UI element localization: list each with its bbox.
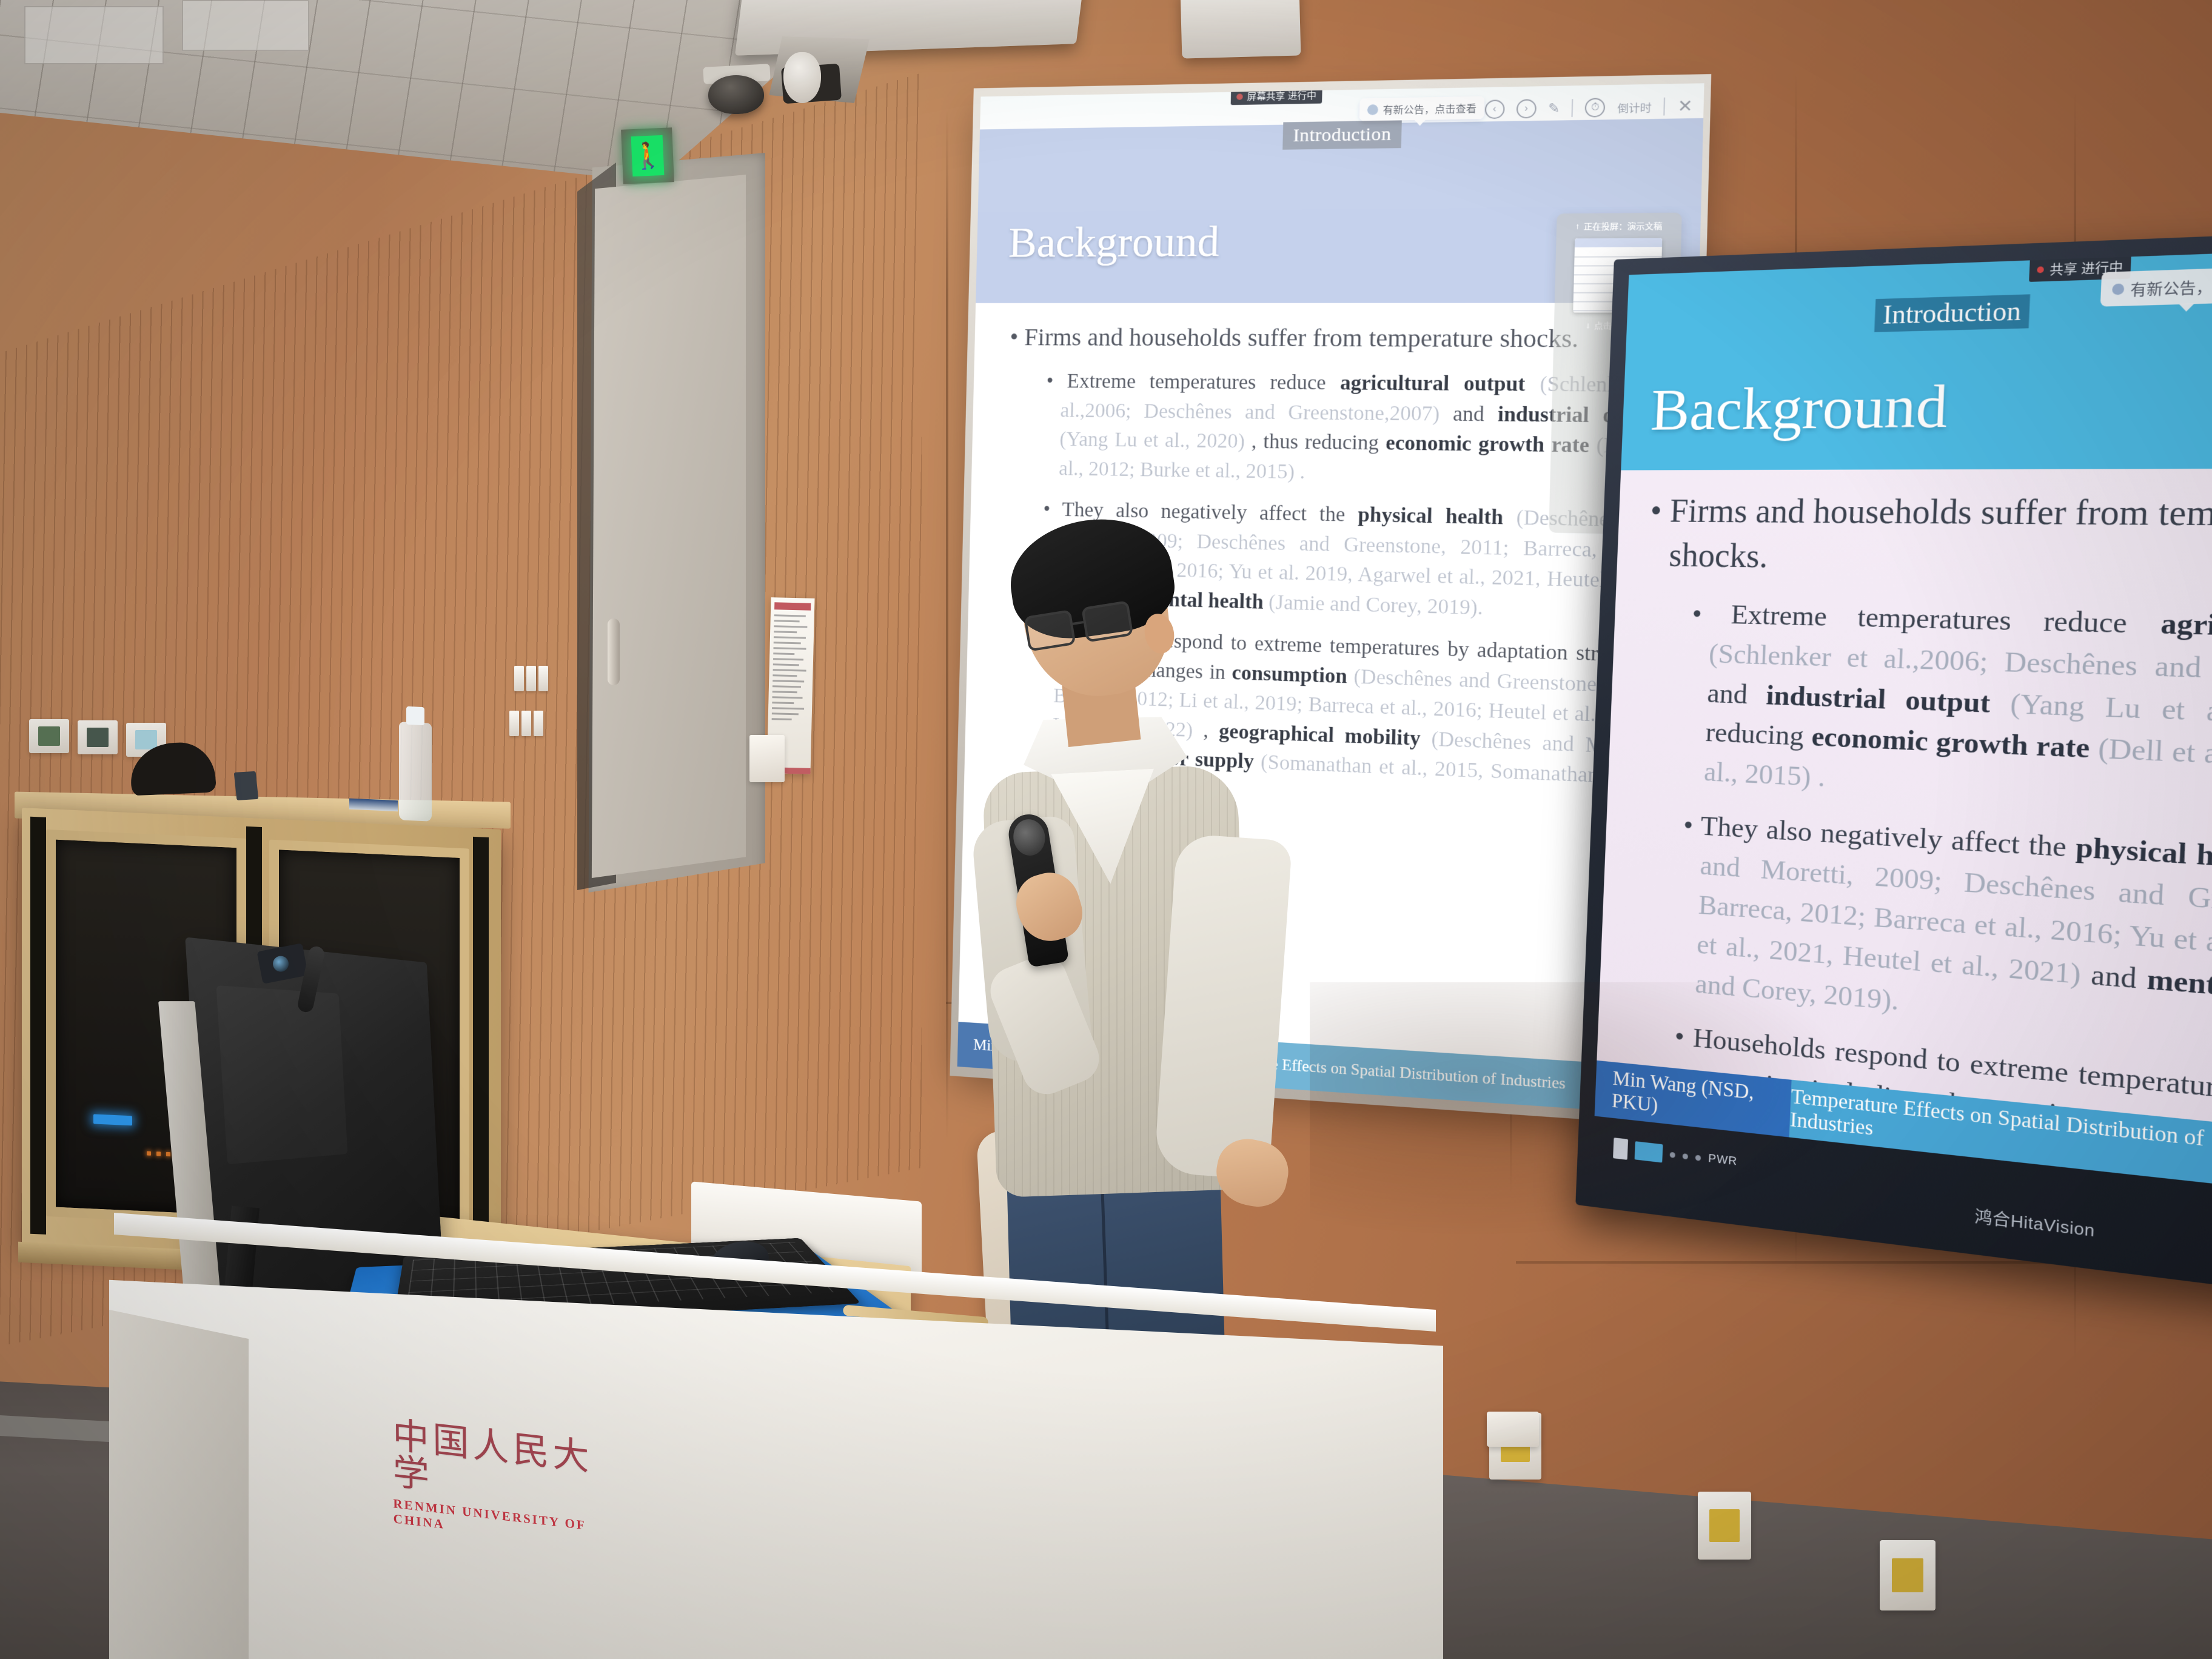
lecture-room-scene: 🚶	[0, 0, 2212, 1659]
lcd-announcement-tooltip[interactable]: 有新公告，点击查看	[2100, 266, 2212, 306]
timer-label[interactable]: 倒计时	[1617, 99, 1652, 115]
wall-switch-plate[interactable]	[1487, 1412, 1539, 1447]
light-switch-bank[interactable]	[514, 666, 548, 691]
ceiling-light-panel	[24, 6, 164, 64]
slide-section-tag: Introduction	[1282, 120, 1402, 149]
wall-control-plate[interactable]	[29, 719, 69, 753]
wall-outlet-plate[interactable]	[749, 735, 785, 782]
door-handle[interactable]	[608, 618, 620, 685]
next-slide-icon[interactable]: ›	[1516, 99, 1537, 118]
lcd-bullet-level2: • Extreme temperatures reduce agricultur…	[1685, 594, 2212, 831]
university-logo: 中国人民大学 RENMIN UNIVERSITY OF CHINA	[392, 1411, 594, 1555]
emergency-exit-sign: 🚶	[621, 127, 674, 184]
toolbar-divider	[1664, 98, 1666, 116]
water-bottle	[399, 722, 432, 821]
download-icon: ↓	[1586, 320, 1590, 330]
lcd-bullet-level1: • Firms and households suffer from tempe…	[1647, 489, 2212, 590]
monitor-rear-panel	[216, 985, 347, 1164]
recording-dot-icon	[2037, 266, 2045, 273]
close-icon[interactable]: ✕	[1677, 96, 1693, 116]
thumbnail-header	[1575, 238, 1662, 247]
share-panel-top-label: ↑ 正在投屏：演示文稿	[1575, 220, 1663, 232]
wall-control-plate[interactable]	[78, 720, 118, 754]
slide-title: Background	[1008, 218, 1219, 268]
door[interactable]	[587, 175, 746, 878]
lcd-slide-title: Background	[1649, 370, 1949, 444]
podium-side-panel	[109, 1310, 249, 1659]
lcd-announcement-label: 有新公告，点击查看	[2130, 272, 2212, 300]
bell-icon	[2112, 283, 2125, 295]
wall-seam	[946, 109, 948, 1140]
pen-tool-icon[interactable]: ✎	[1548, 100, 1560, 116]
exit-running-man-icon: 🚶	[631, 135, 665, 176]
recording-dot-icon	[1236, 93, 1243, 99]
ceiling-sensor	[783, 52, 821, 103]
university-logo-chinese: 中国人民大学	[392, 1417, 593, 1513]
dome-camera	[708, 75, 764, 114]
announcement-tooltip-label: 有新公告，点击查看	[1382, 100, 1476, 117]
bell-icon	[1367, 104, 1379, 115]
announcement-tooltip[interactable]: 有新公告，点击查看	[1359, 96, 1485, 121]
ceiling-light-panel	[182, 0, 309, 51]
wall-shadow	[1310, 982, 1855, 1237]
ceiling-speaker	[1181, 0, 1301, 59]
prev-slide-icon[interactable]: ‹	[1484, 99, 1504, 119]
wall-outlet[interactable]	[1698, 1492, 1751, 1560]
lcd-slide-section-tag: Introduction	[1874, 294, 2030, 332]
timer-icon[interactable]: ⏱	[1585, 98, 1606, 117]
wall-outlet[interactable]	[1880, 1540, 1935, 1610]
upload-icon: ↑	[1575, 221, 1580, 231]
amplifier-display-led	[93, 1114, 132, 1125]
cabinet-pillar	[30, 817, 46, 1235]
notice-text-lines	[772, 614, 811, 720]
notice-header-band	[774, 602, 811, 610]
presenter-right-sleeve	[1154, 833, 1293, 1180]
remote-control[interactable]	[234, 771, 259, 800]
toolbar-divider	[1572, 99, 1574, 117]
light-switch-bank[interactable]	[509, 711, 543, 736]
cabinet-pillar	[473, 837, 489, 1255]
notebook	[349, 799, 398, 812]
